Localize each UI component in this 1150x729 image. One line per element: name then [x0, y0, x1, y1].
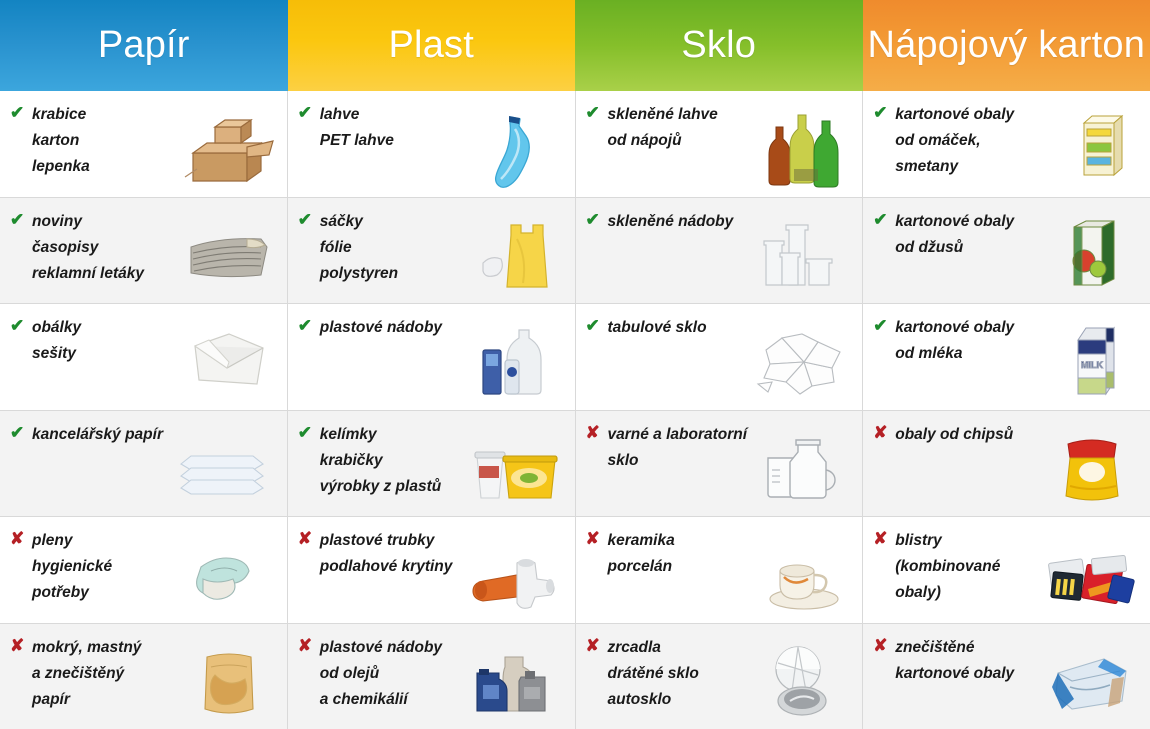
- cross-icon: ✘: [584, 528, 606, 549]
- check-icon: ✔: [296, 422, 318, 443]
- cell-glass: ✔tabulové sklo: [576, 304, 864, 410]
- cell-label-line: hygienické: [32, 554, 207, 580]
- cell-label-line: podlahové krytiny: [320, 554, 495, 580]
- svg-text:MILK: MILK: [1081, 360, 1103, 370]
- cell-beverage-carton: ✘ blistry(kombinovanéobaly): [863, 517, 1150, 623]
- cell-labels: mokrý, mastnýa znečištěnýpapír: [30, 635, 207, 713]
- cell-label-line: potřeby: [32, 580, 207, 606]
- cell-labels: kartonové obalyod omáček,smetany: [893, 102, 1070, 180]
- check-icon: ✔: [296, 315, 318, 336]
- cell-labels: krabicekartonlepenka: [30, 102, 207, 180]
- table-row: ✘mokrý, mastnýa znečištěnýpapír ✘plastov…: [0, 624, 1150, 729]
- table-row: ✔novinyčasopisyreklamní letáky ✔sáčkyfól…: [0, 198, 1150, 305]
- check-icon: ✔: [871, 209, 893, 230]
- cell-beverage-carton: ✔kartonové obalyod omáček,smetany: [863, 91, 1150, 197]
- check-icon: ✔: [8, 102, 30, 123]
- cell-labels: plastové trubkypodlahové krytiny: [318, 528, 495, 580]
- cell-label-line: plastové nádoby: [320, 635, 495, 661]
- cross-icon: ✘: [871, 422, 893, 443]
- cell-label-line: a znečištěný: [32, 661, 207, 687]
- cell-labels: novinyčasopisyreklamní letáky: [30, 209, 207, 287]
- cross-icon: ✘: [871, 635, 893, 656]
- cell-label-line: lepenka: [32, 154, 207, 180]
- cell-label-line: obaly): [895, 580, 1070, 606]
- table-row: ✘plenyhygienicképotřeby ✘plastové trubky…: [0, 517, 1150, 624]
- cell-label-line: PET lahve: [320, 128, 495, 154]
- cell-beverage-carton: ✘obaly od chipsů: [863, 411, 1150, 517]
- cell-label-line: skleněné lahve: [608, 102, 783, 128]
- cell-label-line: kelímky: [320, 422, 495, 448]
- cell-label-line: fólie: [320, 235, 495, 261]
- cell-label-line: krabice: [32, 102, 207, 128]
- check-icon: ✔: [584, 102, 606, 123]
- column-header-label: Nápojový karton: [867, 26, 1145, 65]
- cell-label-line: smetany: [895, 154, 1070, 180]
- cell-label-line: kartonové obaly: [895, 661, 1070, 687]
- cell-labels: zrcadladrátěné skloautosklo: [606, 635, 783, 713]
- cell-label-line: výrobky z plastů: [320, 474, 495, 500]
- cell-label-line: karton: [32, 128, 207, 154]
- cell-label-line: autosklo: [608, 687, 783, 713]
- cell-labels: obálkysešity: [30, 315, 207, 367]
- cell-label-line: a chemikálií: [320, 687, 495, 713]
- cell-label-line: zrcadla: [608, 635, 783, 661]
- cell-label-line: sklo: [608, 448, 783, 474]
- cell-labels: kelímkykrabičkyvýrobky z plastů: [318, 422, 495, 500]
- cell-label-line: pleny: [32, 528, 207, 554]
- cell-labels: plenyhygienicképotřeby: [30, 528, 207, 606]
- cell-label-line: časopisy: [32, 235, 207, 261]
- cell-paper: ✔novinyčasopisyreklamní letáky: [0, 198, 288, 304]
- table-row: ✔krabicekartonlepenka ✔lahvePET lahve ✔s…: [0, 91, 1150, 198]
- cell-label-line: lahve: [320, 102, 495, 128]
- check-icon: ✔: [296, 209, 318, 230]
- cell-labels: varné a laboratornísklo: [606, 422, 783, 474]
- recycling-guide-table: Papír Plast Sklo Nápojový karton ✔krabic…: [0, 0, 1150, 729]
- cell-label-line: od olejů: [320, 661, 495, 687]
- cell-paper: ✘plenyhygienicképotřeby: [0, 517, 288, 623]
- cell-glass: ✔skleněné nádoby: [576, 198, 864, 304]
- cell-labels: lahvePET lahve: [318, 102, 495, 154]
- cell-glass: ✘keramikaporcelán: [576, 517, 864, 623]
- cell-labels: tabulové sklo: [606, 315, 783, 341]
- cell-label-line: od mléka: [895, 341, 1070, 367]
- cell-labels: obaly od chipsů: [893, 422, 1070, 448]
- cell-labels: blistry(kombinovanéobaly): [893, 528, 1070, 606]
- cell-beverage-carton: ✔kartonové obalyod džusů: [863, 198, 1150, 304]
- cell-labels: plastové nádoby: [318, 315, 495, 341]
- cell-label-line: blistry: [895, 528, 1070, 554]
- check-icon: ✔: [296, 102, 318, 123]
- cell-labels: skleněné nádoby: [606, 209, 783, 235]
- cell-beverage-carton: ✔kartonové obalyod mléka MILK: [863, 304, 1150, 410]
- column-header-label: Sklo: [681, 26, 756, 65]
- cell-label-line: krabičky: [320, 448, 495, 474]
- cell-label-line: skleněné nádoby: [608, 209, 783, 235]
- cell-labels: skleněné lahveod nápojů: [606, 102, 783, 154]
- cross-icon: ✘: [584, 422, 606, 443]
- cell-plastic: ✔plastové nádoby: [288, 304, 576, 410]
- cell-plastic: ✘plastové nádobyod olejůa chemikálií: [288, 624, 576, 729]
- check-icon: ✔: [8, 422, 30, 443]
- cell-label-line: tabulové sklo: [608, 315, 783, 341]
- cell-labels: kartonové obalyod džusů: [893, 209, 1070, 261]
- cell-label-line: reklamní letáky: [32, 261, 207, 287]
- column-header-plastic: Plast: [288, 0, 576, 91]
- cell-plastic: ✔kelímkykrabičkyvýrobky z plastů: [288, 411, 576, 517]
- table-body: ✔krabicekartonlepenka ✔lahvePET lahve ✔s…: [0, 91, 1150, 729]
- table-row: ✔kancelářský papír ✔kelímkykrabičkyvýrob…: [0, 411, 1150, 518]
- table-row: ✔obálkysešity ✔plastové nádoby ✔tabulové…: [0, 304, 1150, 411]
- column-header-label: Papír: [98, 26, 190, 65]
- column-header-label: Plast: [389, 26, 474, 65]
- column-header-paper: Papír: [0, 0, 288, 91]
- cross-icon: ✘: [8, 528, 30, 549]
- cross-icon: ✘: [296, 635, 318, 656]
- table-header-row: Papír Plast Sklo Nápojový karton: [0, 0, 1150, 91]
- cell-glass: ✔skleněné lahveod nápojů: [576, 91, 864, 197]
- cell-label-line: keramika: [608, 528, 783, 554]
- check-icon: ✔: [8, 315, 30, 336]
- cell-label-line: (kombinované: [895, 554, 1070, 580]
- cell-label-line: kancelářský papír: [32, 422, 207, 448]
- cell-label-line: plastové trubky: [320, 528, 495, 554]
- cell-paper: ✔kancelářský papír: [0, 411, 288, 517]
- cell-glass: ✘varné a laboratornísklo: [576, 411, 864, 517]
- column-header-glass: Sklo: [575, 0, 863, 91]
- cell-label-line: obaly od chipsů: [895, 422, 1070, 448]
- cross-icon: ✘: [871, 528, 893, 549]
- cell-plastic: ✔sáčkyfóliepolystyren: [288, 198, 576, 304]
- cell-labels: kartonové obalyod mléka: [893, 315, 1070, 367]
- column-header-beverage-carton: Nápojový karton: [863, 0, 1150, 91]
- cell-plastic: ✔lahvePET lahve: [288, 91, 576, 197]
- cell-label-line: noviny: [32, 209, 207, 235]
- cross-icon: ✘: [584, 635, 606, 656]
- cell-label-line: papír: [32, 687, 207, 713]
- cell-labels: keramikaporcelán: [606, 528, 783, 580]
- cell-beverage-carton: ✘znečištěnékartonové obaly: [863, 624, 1150, 729]
- cell-label-line: mokrý, mastný: [32, 635, 207, 661]
- check-icon: ✔: [584, 209, 606, 230]
- cell-label-line: obálky: [32, 315, 207, 341]
- cell-paper: ✔obálkysešity: [0, 304, 288, 410]
- check-icon: ✔: [584, 315, 606, 336]
- cell-paper: ✘mokrý, mastnýa znečištěnýpapír: [0, 624, 288, 729]
- check-icon: ✔: [871, 102, 893, 123]
- cell-label-line: drátěné sklo: [608, 661, 783, 687]
- cell-label-line: od nápojů: [608, 128, 783, 154]
- cell-plastic: ✘plastové trubkypodlahové krytiny: [288, 517, 576, 623]
- cell-label-line: varné a laboratorní: [608, 422, 783, 448]
- cross-icon: ✘: [8, 635, 30, 656]
- cell-label-line: porcelán: [608, 554, 783, 580]
- cell-label-line: kartonové obaly: [895, 209, 1070, 235]
- cell-paper: ✔krabicekartonlepenka: [0, 91, 288, 197]
- cross-icon: ✘: [296, 528, 318, 549]
- cell-label-line: od džusů: [895, 235, 1070, 261]
- cell-label-line: kartonové obaly: [895, 315, 1070, 341]
- cell-labels: plastové nádobyod olejůa chemikálií: [318, 635, 495, 713]
- cell-label-line: plastové nádoby: [320, 315, 495, 341]
- cell-labels: sáčkyfóliepolystyren: [318, 209, 495, 287]
- cell-label-line: od omáček,: [895, 128, 1070, 154]
- cell-glass: ✘zrcadladrátěné skloautosklo: [576, 624, 864, 729]
- cell-label-line: kartonové obaly: [895, 102, 1070, 128]
- cell-label-line: sáčky: [320, 209, 495, 235]
- cell-label-line: polystyren: [320, 261, 495, 287]
- cell-label-line: sešity: [32, 341, 207, 367]
- cell-labels: kancelářský papír: [30, 422, 207, 448]
- check-icon: ✔: [8, 209, 30, 230]
- check-icon: ✔: [871, 315, 893, 336]
- cell-label-line: znečištěné: [895, 635, 1070, 661]
- cell-labels: znečištěnékartonové obaly: [893, 635, 1070, 687]
